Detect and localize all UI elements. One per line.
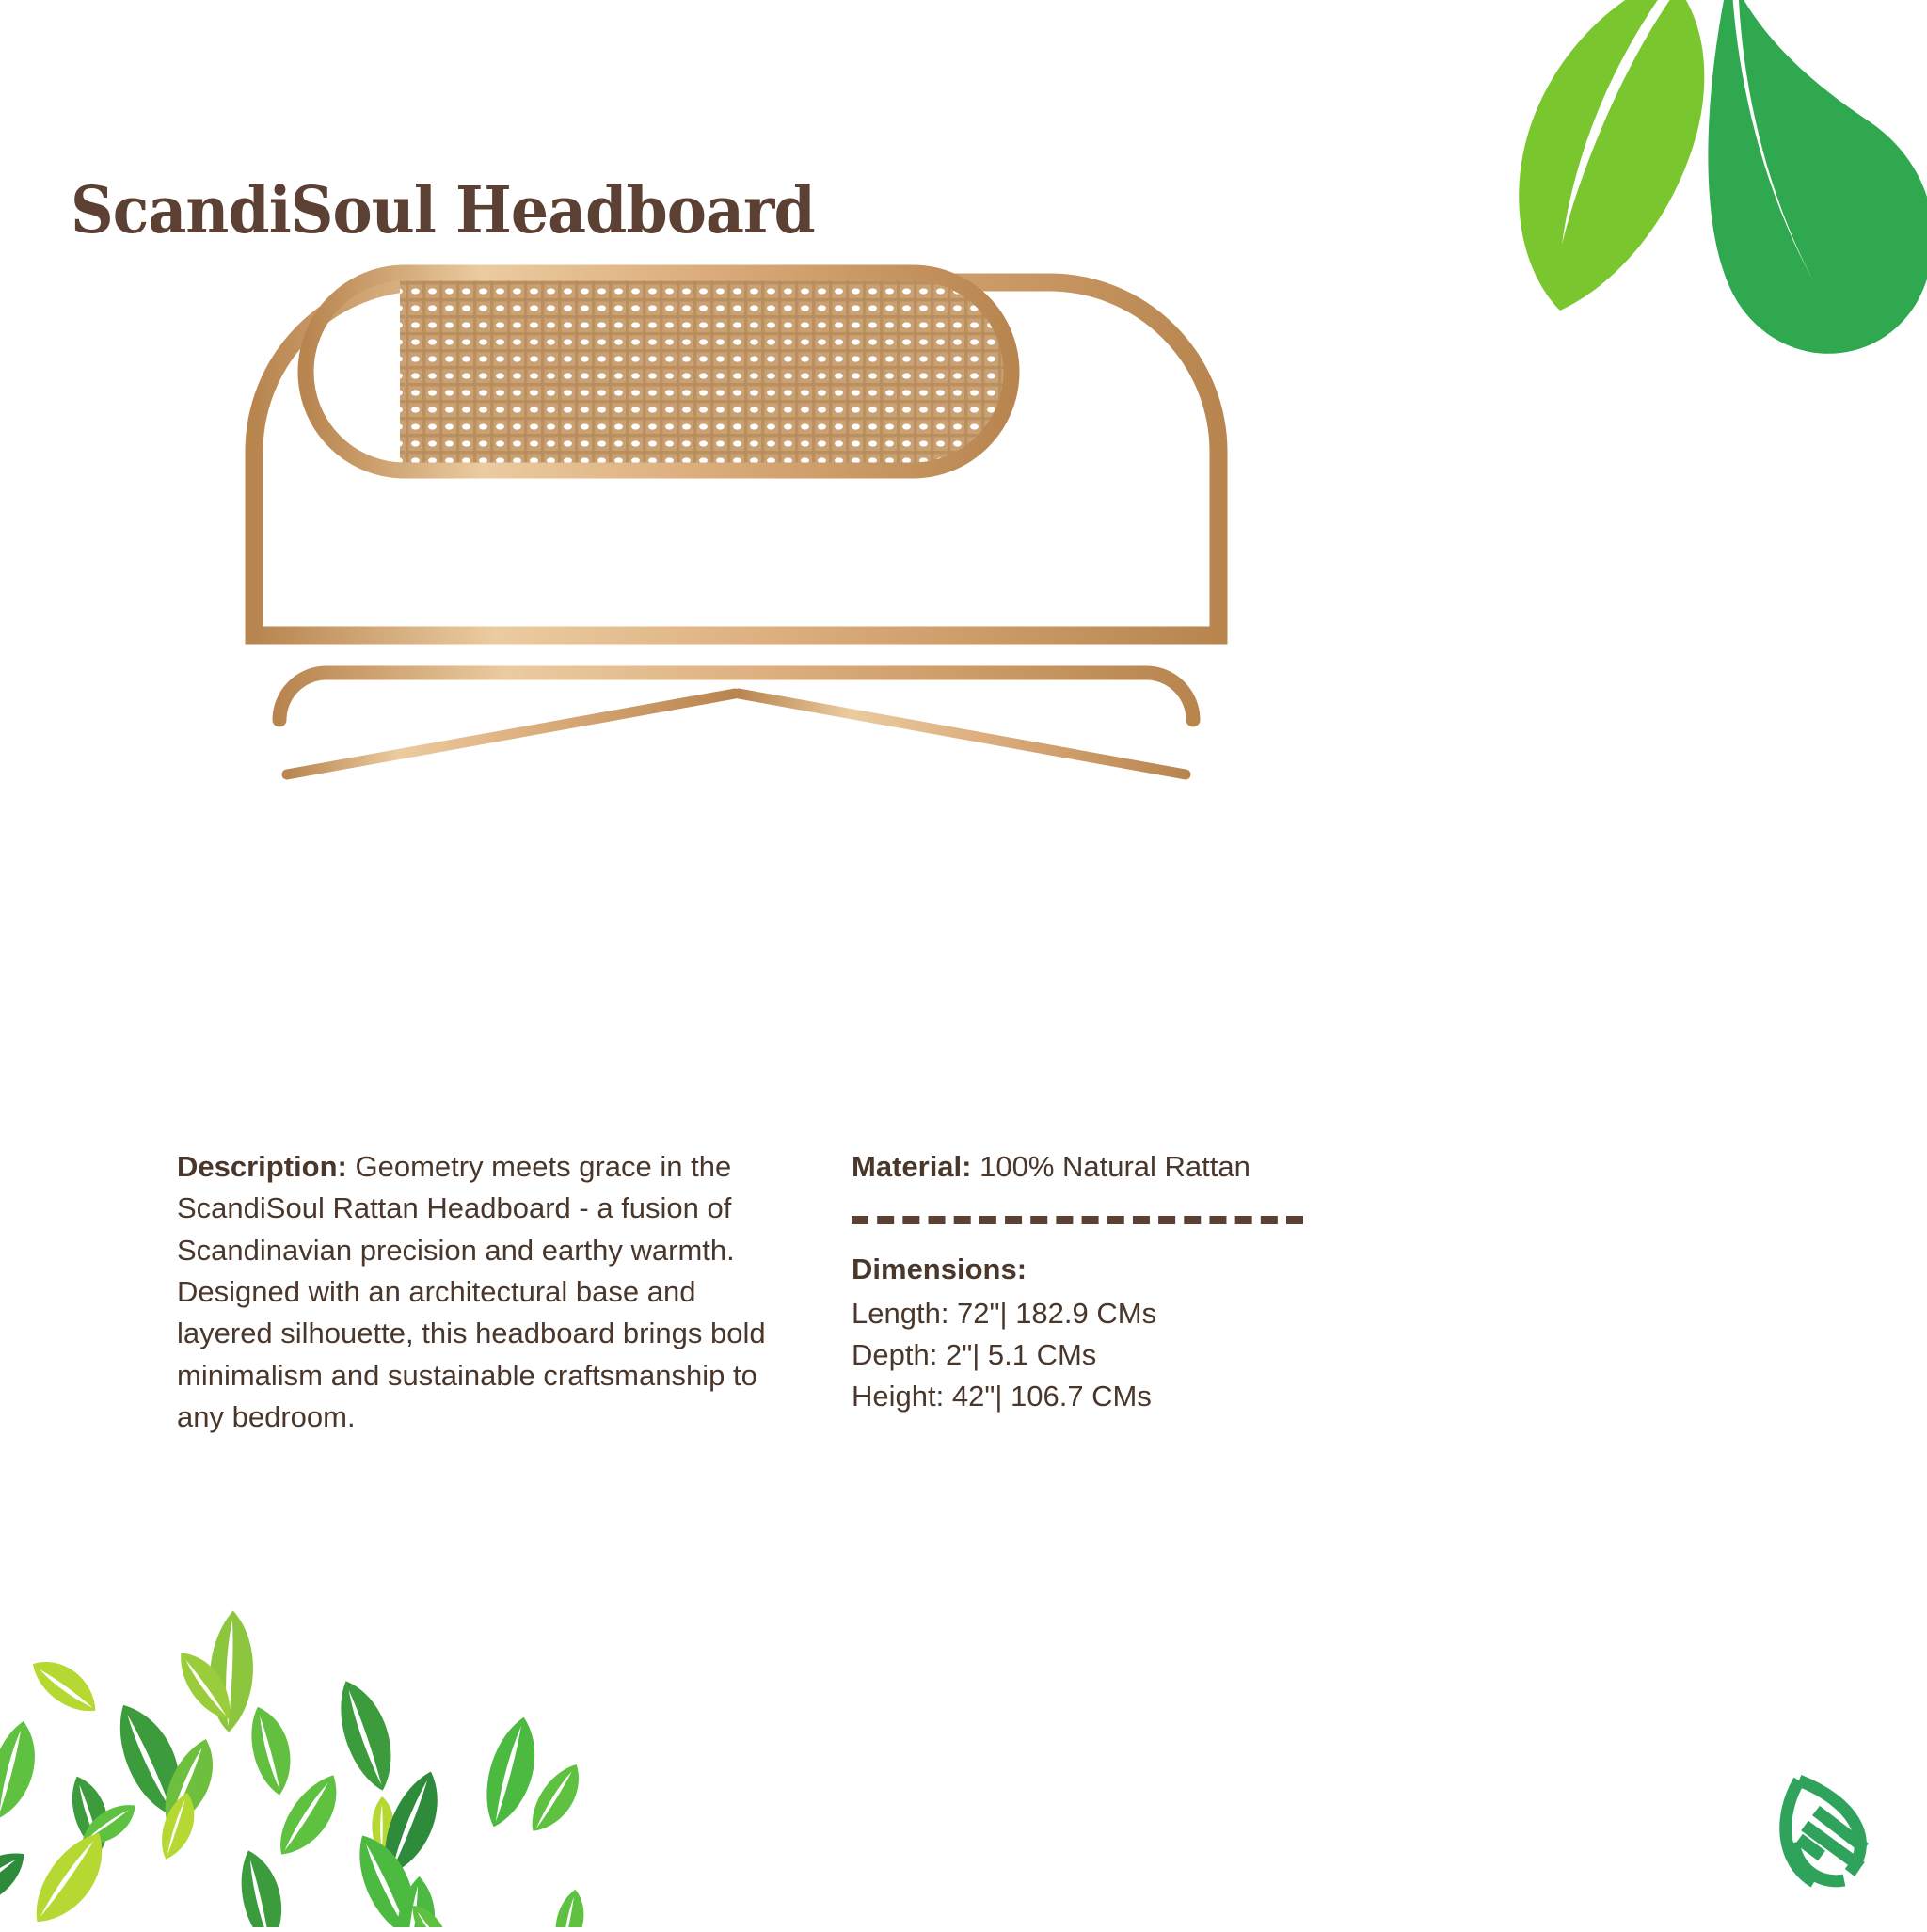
dimension-depth: Depth: 2"| 5.1 CMs — [852, 1334, 1341, 1376]
specs-block: Material: 100% Natural Rattan Dimensions… — [852, 1146, 1341, 1418]
description-body: Geometry meets grace in the ScandiSoul R… — [177, 1150, 766, 1433]
material-value: 100% Natural Rattan — [971, 1150, 1250, 1183]
material-row: Material: 100% Natural Rattan — [852, 1146, 1341, 1188]
material-label: Material: — [852, 1150, 971, 1183]
dimension-length: Length: 72"| 182.9 CMs — [852, 1293, 1341, 1334]
leaf-logo-icon — [1771, 1769, 1882, 1892]
description-block: Description: Geometry meets grace in the… — [177, 1146, 798, 1438]
dimensions-label: Dimensions: — [852, 1249, 1341, 1290]
poster-canvas: ScandiSoul Headboard — [0, 0, 1927, 1927]
section-divider — [852, 1216, 1303, 1224]
dimension-height: Height: 42"| 106.7 CMs — [852, 1376, 1341, 1417]
leaf-scatter-icon — [0, 1570, 621, 1927]
product-image — [202, 231, 1313, 842]
leaf-pair-icon — [1419, 0, 1927, 367]
description-label: Description: — [177, 1150, 347, 1183]
